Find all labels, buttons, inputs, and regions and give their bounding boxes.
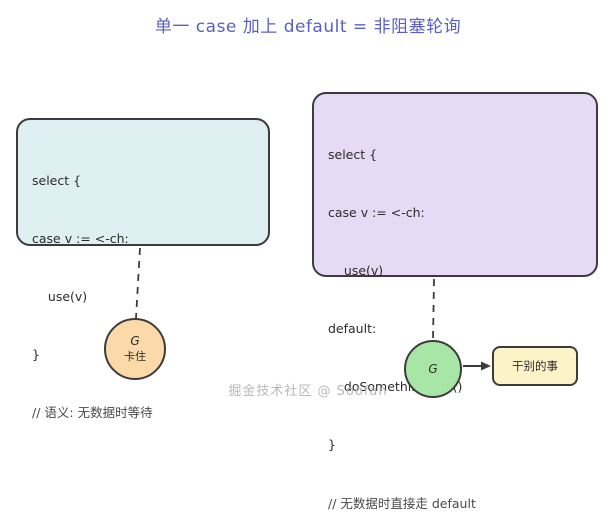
code-line: use(v)	[328, 261, 582, 280]
code-line: use(v)	[32, 287, 254, 306]
goroutine-blocked: G 卡住	[104, 318, 166, 380]
goroutine-status: 卡住	[124, 350, 146, 365]
code-line: }	[328, 435, 582, 454]
code-line: default:	[328, 319, 582, 338]
code-block-blocking: select { case v := <-ch: use(v) } // 语义:…	[16, 118, 270, 246]
code-line: select {	[32, 171, 254, 190]
other-task-label: 干别的事	[512, 358, 558, 374]
goroutine-letter: G	[428, 361, 437, 377]
watermark: 掘金技术社区 @ Soofan	[0, 380, 616, 399]
code-line: select {	[328, 145, 582, 164]
page-title: 单一 case 加上 default = 非阻塞轮询	[0, 12, 616, 37]
code-comment: // 无数据时直接走 default	[328, 494, 582, 513]
code-block-nonblocking: select { case v := <-ch: use(v) default:…	[312, 92, 598, 277]
goroutine-letter: G	[130, 333, 139, 349]
code-line: case v := <-ch:	[32, 229, 254, 248]
code-line: case v := <-ch:	[328, 203, 582, 222]
